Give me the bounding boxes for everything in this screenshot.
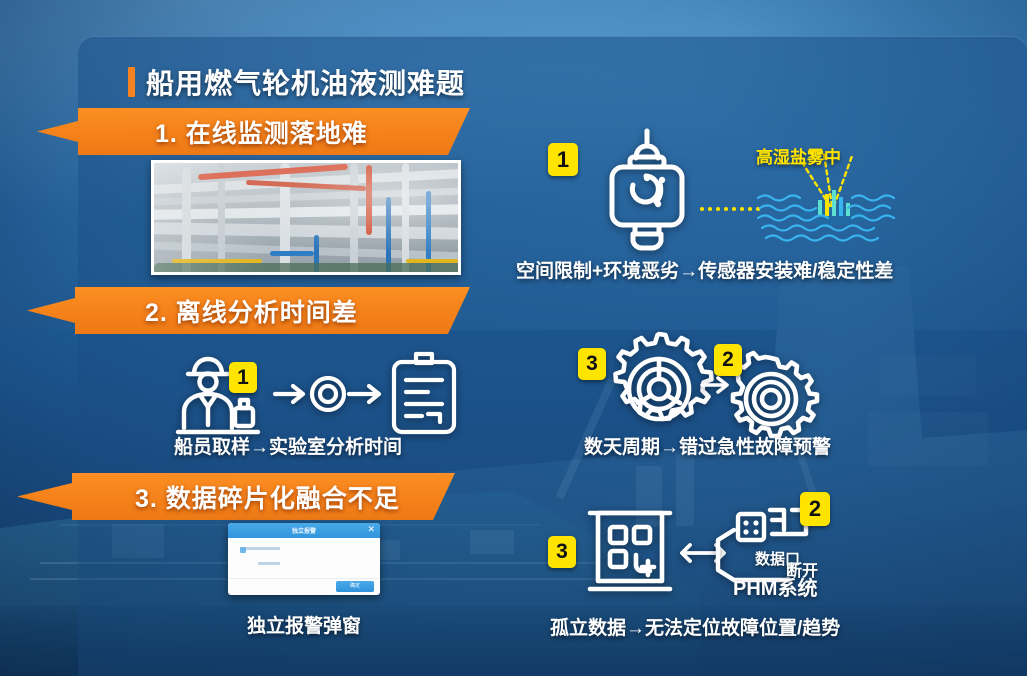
- dialog-title: 独立报警: [292, 526, 316, 535]
- section-2-left-caption: 船员取样→实验室分析时间: [174, 432, 402, 459]
- section-2-heading-text: 2. 离线分析时间差: [145, 293, 358, 329]
- section-3-heading-banner[interactable]: 3. 数据碎片化融合不足: [17, 473, 455, 520]
- section-1-caption: 空间限制+环境恶劣→传感器安装难/稳定性差: [516, 256, 893, 283]
- section-3-right-caption: 孤立数据→无法定位故障位置/趋势: [550, 613, 840, 640]
- section-2-right-caption: 数天周期→错过急性故障预警: [584, 432, 831, 459]
- badge-section3-right-2: 2: [800, 492, 830, 526]
- badge-section3-left-3: 3: [548, 536, 576, 568]
- close-icon[interactable]: ✕: [367, 525, 375, 534]
- dialog-confirm-label: 确定: [336, 581, 374, 592]
- humidity-salt-annotation: 高湿盐雾中: [756, 143, 841, 168]
- section-1-heading-text: 1. 在线监测落地难: [155, 114, 368, 150]
- section-3-left-caption: 独立报警弹窗: [247, 611, 361, 638]
- page-title-text: 船用燃气轮机油液测难题: [146, 62, 465, 102]
- dialog-body: [228, 538, 380, 578]
- phm-system-label: PHM系统: [733, 572, 817, 601]
- badge-section2-left-1: 1: [229, 362, 257, 393]
- section-2-heading-banner[interactable]: 2. 离线分析时间差: [27, 287, 470, 334]
- badge-section1-1: 1: [548, 143, 578, 176]
- standalone-alarm-dialog[interactable]: 独立报警 ✕ 确定: [228, 523, 380, 595]
- data-terminal-icon: [586, 505, 674, 597]
- sea-waves-icon: [756, 178, 906, 244]
- signal-dots: [700, 205, 762, 213]
- page-title: 船用燃气轮机油液测难题: [128, 62, 465, 102]
- dialog-confirm-button[interactable]: 确定: [336, 581, 374, 592]
- lab-analysis-icon: [384, 350, 462, 442]
- badge-section2-right-3: 3: [578, 348, 606, 380]
- dialog-footer: 确定: [228, 578, 380, 595]
- sensor-device-icon: [600, 128, 694, 252]
- engine-room-photo: [151, 160, 461, 275]
- badge-section2-right-2: 2: [714, 344, 742, 376]
- title-accent-bar: [128, 67, 135, 97]
- section-3-heading-text: 3. 数据碎片化融合不足: [135, 479, 400, 515]
- dialog-title-bar: 独立报警 ✕: [228, 523, 380, 538]
- section-1-heading-banner[interactable]: 1. 在线监测落地难: [37, 108, 470, 155]
- gear-link-arrow-icon: [700, 373, 734, 397]
- process-flow-icon: [273, 370, 393, 418]
